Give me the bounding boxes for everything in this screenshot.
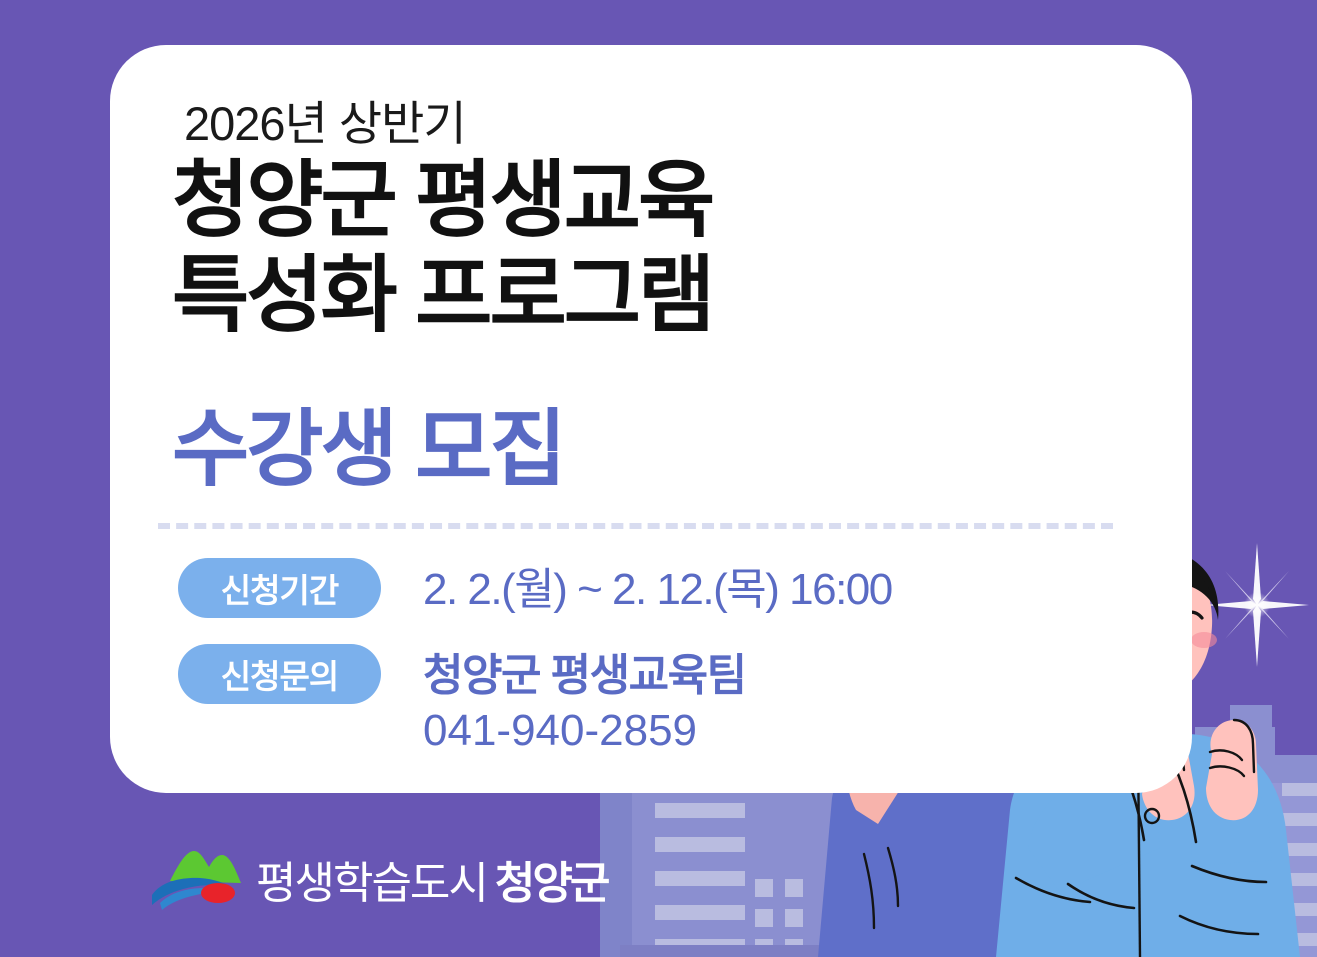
info-list: 신청기간 2. 2.(월) ~ 2. 12.(목) 16:00 신청문의 청양군…: [178, 558, 1158, 785]
content-card: 2026년 상반기 청양군 평생교육 특성화 프로그램 수강생 모집 신청기간 …: [110, 45, 1192, 793]
mountain-wave-logo-icon: [148, 843, 244, 915]
headline-line-2: 특성화 프로그램: [172, 248, 712, 343]
subheadline: 수강생 모집: [172, 403, 564, 495]
info-row-application-period: 신청기간 2. 2.(월) ~ 2. 12.(목) 16:00: [178, 558, 1158, 618]
logo-text: 평생학습도시 청양군: [256, 847, 607, 911]
poster-root: 2026년 상반기 청양군 평생교육 특성화 프로그램 수강생 모집 신청기간 …: [0, 0, 1317, 957]
logo-text-city: 평생학습도시: [256, 847, 487, 911]
eyebrow-text: 2026년 상반기: [184, 85, 466, 154]
info-row-contact: 신청문의 청양군 평생교육팀 041-940-2859: [178, 644, 1158, 759]
value-application-period: 2. 2.(월) ~ 2. 12.(목) 16:00: [423, 558, 892, 617]
badge-application-period: 신청기간: [178, 558, 381, 618]
badge-contact: 신청문의: [178, 644, 381, 704]
logo-text-county: 청양군: [495, 847, 607, 911]
headline-line-1: 청양군 평생교육: [172, 153, 712, 248]
contact-team-name: 청양군 평생교육팀: [423, 651, 746, 700]
footer-logo: 평생학습도시 청양군: [148, 843, 607, 915]
value-contact: 청양군 평생교육팀 041-940-2859: [423, 644, 746, 759]
contact-phone-number: 041-940-2859: [423, 703, 746, 758]
headline: 청양군 평생교육 특성화 프로그램: [172, 153, 712, 343]
dashed-divider: [158, 523, 1113, 529]
